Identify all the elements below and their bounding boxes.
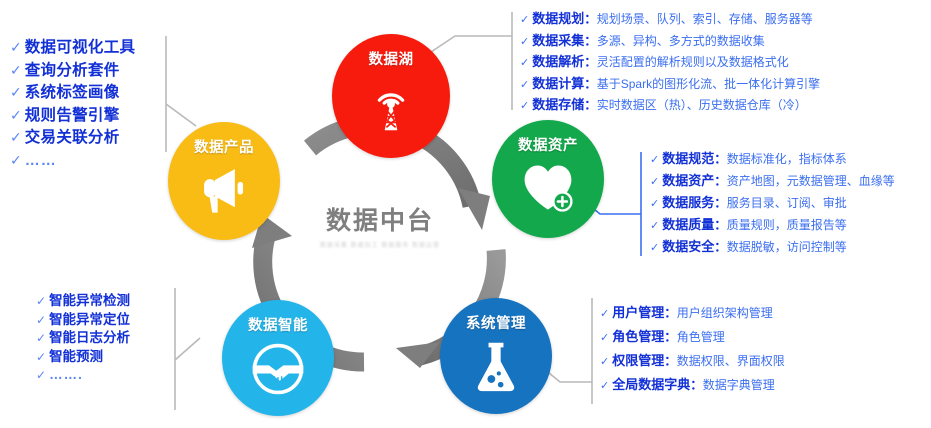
bullet-colon: ：: [714, 241, 727, 254]
bullet-term: 智能预测: [49, 350, 103, 364]
bullet-item: ✓……: [10, 153, 135, 168]
bullet-description: 质量规则，质量报告等: [727, 219, 847, 231]
bullet-description: 基于Spark的图形化流、批一体化计算引擎: [597, 78, 820, 90]
check-icon: ✓: [10, 108, 22, 122]
bullet-description: 灵活配置的解析规则以及数据格式化: [597, 56, 789, 68]
check-icon: ✓: [10, 40, 22, 54]
leader-data-lake: [425, 36, 512, 56]
check-icon: ✓: [520, 101, 529, 112]
bullet-colon: ：: [584, 99, 597, 112]
check-icon: ✓: [650, 155, 659, 166]
bullet-term: 智能异常定位: [49, 313, 130, 327]
bullet-term: 规则告警引擎: [25, 108, 120, 124]
bullet-item: ✓数据服务：服务目录、订阅、审批: [650, 196, 895, 210]
bullet-item: ✓用户管理：用户组织架构管理: [600, 306, 785, 320]
bullet-term: 系统标签画像: [25, 85, 120, 101]
bullet-item: ✓角色管理：角色管理: [600, 330, 785, 344]
bullet-term: 数据存储: [532, 98, 584, 111]
bullet-item: ✓系统标签画像: [10, 85, 135, 101]
bullet-description: 数据脱敏，访问控制等: [727, 241, 847, 253]
bullet-colon: ：: [714, 197, 727, 210]
bullet-description: 实时数据区（热）、历史数据仓库（冷）: [597, 99, 807, 111]
text-block-data-intelligence: ✓智能异常检测✓智能异常定位✓智能日志分析✓智能预测✓…….: [36, 294, 130, 387]
text-block-data-asset: ✓数据规范：数据标准化，指标体系✓数据资产：资产地图，元数据管理、血缘等✓数据服…: [650, 152, 895, 262]
bullet-item: ✓规则告警引擎: [10, 108, 135, 124]
text-block-data-lake: ✓数据规划：规划场景、队列、索引、存储、服务器等✓数据采集：多源、异构、多方式的…: [520, 12, 820, 120]
bullet-term: 用户管理: [612, 306, 664, 319]
bullet-item: ✓全局数据字典：数据字典管理: [600, 378, 785, 392]
bullet-colon: ：: [584, 56, 597, 69]
bullet-term: 交易关联分析: [25, 130, 120, 146]
node-data-intelligence[interactable]: 数据智能: [222, 300, 334, 416]
bullet-term: 查询分析套件: [25, 63, 120, 79]
node-system-manage-label: 系统管理: [466, 312, 526, 333]
bullet-description: 用户组织架构管理: [677, 307, 773, 319]
bullet-colon: ：: [584, 78, 597, 91]
bullet-item: ✓数据解析：灵活配置的解析规则以及数据格式化: [520, 55, 820, 69]
bullet-item: ✓数据采集：多源、异构、多方式的数据收集: [520, 34, 820, 48]
bullet-colon: ：: [714, 219, 727, 232]
node-data-asset-label: 数据资产: [518, 134, 578, 155]
bullet-term: 数据规划: [532, 12, 584, 25]
check-icon: ✓: [36, 332, 46, 344]
bullet-term: 权限管理: [612, 354, 664, 367]
bullet-colon: ：: [714, 175, 727, 188]
bullet-description: 数据标准化，指标体系: [727, 153, 847, 165]
check-icon: ✓: [520, 58, 529, 69]
node-system-manage[interactable]: 系统管理: [440, 298, 552, 414]
bullet-description: 资产地图，元数据管理、血缘等: [727, 175, 895, 187]
text-block-system-manage: ✓用户管理：用户组织架构管理✓角色管理：角色管理✓权限管理：数据权限、界面权限✓…: [600, 306, 785, 402]
bullet-term: 数据计算: [532, 77, 584, 90]
bullet-ellipsis: ……: [25, 153, 57, 168]
bullet-term: 数据可视化工具: [25, 40, 136, 56]
bullet-item: ✓数据规划：规划场景、队列、索引、存储、服务器等: [520, 12, 820, 26]
node-data-lake[interactable]: 数据湖: [332, 34, 450, 158]
bullet-term: 数据采集: [532, 34, 584, 47]
check-icon: ✓: [650, 243, 659, 254]
bullet-term: 数据规范: [662, 152, 714, 165]
bullet-term: 智能异常检测: [49, 294, 130, 308]
bullet-item: ✓查询分析套件: [10, 63, 135, 79]
check-icon: ✓: [600, 309, 609, 320]
leader-data-intelligence: [175, 338, 200, 360]
check-icon: ✓: [520, 80, 529, 91]
node-data-lake-label: 数据湖: [369, 48, 414, 69]
bullet-term: 数据服务: [662, 196, 714, 209]
node-data-product-label: 数据产品: [194, 136, 254, 157]
check-icon: ✓: [10, 85, 22, 99]
megaphone-icon: [195, 163, 253, 217]
bullet-term: 数据解析: [532, 55, 584, 68]
node-data-intelligence-label: 数据智能: [248, 314, 308, 335]
bullet-term: 数据安全: [662, 240, 714, 253]
bullet-colon: ：: [664, 355, 677, 368]
bullet-colon: ：: [584, 35, 597, 48]
check-icon: ✓: [10, 130, 22, 144]
hub-label: 数据中台 数据采集 数据加工 数据服务 数据运营: [300, 208, 460, 249]
heart-plus-icon: [519, 161, 577, 215]
hub-title: 数据中台: [300, 208, 460, 236]
check-icon: ✓: [520, 15, 529, 26]
handshake-icon: [249, 341, 307, 397]
bullet-item: ✓数据计算：基于Spark的图形化流、批一体化计算引擎: [520, 77, 820, 91]
bullet-description: 多源、异构、多方式的数据收集: [597, 35, 765, 47]
bullet-colon: ：: [584, 13, 597, 26]
bullet-item: ✓数据存储：实时数据区（热）、历史数据仓库（冷）: [520, 98, 820, 112]
bullet-item: ✓数据安全：数据脱敏，访问控制等: [650, 240, 895, 254]
bullet-term: 数据质量: [662, 218, 714, 231]
check-icon: ✓: [36, 314, 46, 326]
hub-subtitle: 数据采集 数据加工 数据服务 数据运营: [300, 240, 460, 249]
bullet-description: 规划场景、队列、索引、存储、服务器等: [597, 13, 813, 25]
bullet-description: 数据字典管理: [703, 379, 775, 391]
bullet-description: 角色管理: [677, 331, 725, 343]
leader-data-product: [166, 104, 196, 126]
bullet-item: ✓数据资产：资产地图，元数据管理、血缘等: [650, 174, 895, 188]
bullet-item: ✓数据规范：数据标准化，指标体系: [650, 152, 895, 166]
bullet-colon: ：: [664, 307, 677, 320]
bullet-item: ✓…….: [36, 368, 130, 382]
check-icon: ✓: [10, 63, 22, 77]
bullet-term: 全局数据字典: [612, 378, 690, 391]
bullet-item: ✓交易关联分析: [10, 130, 135, 146]
bullet-item: ✓数据可视化工具: [10, 40, 135, 56]
check-icon: ✓: [36, 351, 46, 363]
bullet-item: ✓智能异常定位: [36, 313, 130, 327]
check-icon: ✓: [520, 37, 529, 48]
bullet-description: 数据权限、界面权限: [677, 355, 785, 367]
text-block-data-product: ✓数据可视化工具✓查询分析套件✓系统标签画像✓规则告警引擎✓交易关联分析✓……: [10, 40, 135, 175]
broadcast-tower-icon: [360, 75, 422, 137]
bullet-ellipsis: …….: [49, 368, 83, 382]
check-icon: ✓: [650, 221, 659, 232]
bullet-item: ✓智能日志分析: [36, 331, 130, 345]
leader-system-manage: [543, 368, 592, 382]
check-icon: ✓: [10, 153, 22, 167]
bullet-term: 数据资产: [662, 174, 714, 187]
check-icon: ✓: [600, 381, 609, 392]
bullet-item: ✓智能异常检测: [36, 294, 130, 308]
node-data-product[interactable]: 数据产品: [168, 122, 280, 240]
check-icon: ✓: [650, 199, 659, 210]
bullet-description: 服务目录、订阅、审批: [727, 197, 847, 209]
check-icon: ✓: [600, 333, 609, 344]
check-icon: ✓: [36, 295, 46, 307]
bullet-item: ✓数据质量：质量规则，质量报告等: [650, 218, 895, 232]
bullet-colon: ：: [690, 379, 703, 392]
flask-icon: [471, 339, 521, 393]
bullet-term: 智能日志分析: [49, 331, 130, 345]
bullet-item: ✓权限管理：数据权限、界面权限: [600, 354, 785, 368]
diagram-canvas: 数据湖 数据资产: [0, 0, 931, 428]
node-data-asset[interactable]: 数据资产: [492, 120, 604, 238]
check-icon: ✓: [600, 357, 609, 368]
bullet-term: 角色管理: [612, 330, 664, 343]
check-icon: ✓: [36, 369, 46, 381]
bullet-colon: ：: [714, 153, 727, 166]
check-icon: ✓: [650, 177, 659, 188]
bullet-colon: ：: [664, 331, 677, 344]
bullet-item: ✓智能预测: [36, 350, 130, 364]
